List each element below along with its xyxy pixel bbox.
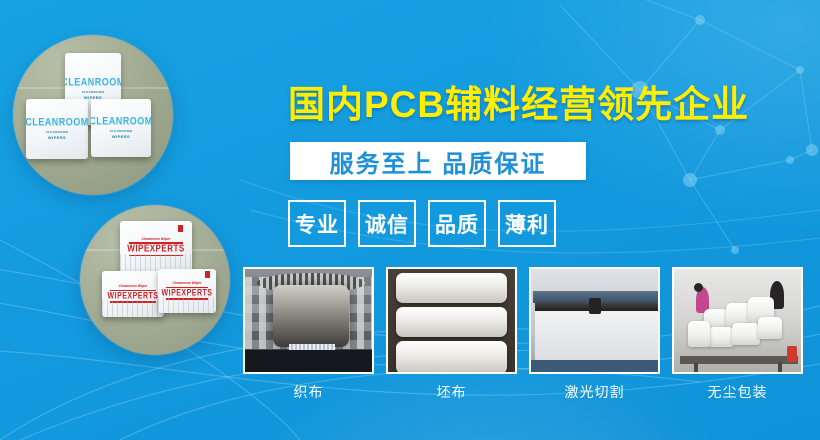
cleanroom-wipes-circle: CLEANROOM CLEANROOM WIPERS CLEANROOM CLE… (13, 35, 173, 195)
cleanroom-pack-right: CLEANROOM CLEANROOM WIPERS (91, 99, 151, 157)
process-photo-item: 无尘包装 (672, 267, 803, 402)
wipexperts-brand-text: WIPEXPERTS (162, 289, 213, 298)
cleanroom-sub-text: CLEANROOM (110, 129, 132, 133)
photo-caption: 坯布 (437, 382, 467, 402)
cleanroom-brand-text: CLEANROOM (91, 116, 151, 127)
red-stamp-icon (205, 271, 210, 278)
cleanroom-brand-text: CLEANROOM (26, 117, 88, 128)
wipexperts-top-text: Cleanroom Wiper (173, 281, 202, 285)
cleanroom-sub-text: CLEANROOM (82, 90, 104, 94)
badge-label: 品质 (435, 209, 479, 239)
laser-cutting-photo (529, 267, 660, 374)
process-photo-strip: 织布 坯布 激光切割 (243, 267, 803, 402)
wipexperts-pack-left: Cleanroom Wiper WIPEXPERTS (102, 271, 164, 317)
wipexperts-top-text: Cleanroom Wiper (142, 237, 171, 241)
badge-label: 诚信 (365, 209, 409, 239)
wipexperts-circle: Cleanroom Wiper WIPEXPERTS Cleanroom Wip… (80, 205, 230, 355)
cleanroom-pack-left: CLEANROOM CLEANROOM WIPERS (26, 99, 88, 159)
badge-integrity: 诚信 (358, 200, 416, 247)
cleanroom-sub2-text: WIPERS (48, 135, 66, 140)
promotional-banner: CLEANROOM CLEANROOM WIPERS CLEANROOM CLE… (0, 0, 820, 440)
value-badge-row: 专业 诚信 品质 薄利 (288, 200, 556, 247)
banner-headline: 国内PCB辅料经营领先企业 (288, 74, 749, 128)
subtitle-band: 服务至上 品质保证 (290, 142, 586, 180)
wipexperts-brand-text: WIPEXPERTS (108, 292, 159, 301)
fabric-rolls-photo (386, 267, 517, 374)
wipexperts-pack-right: Cleanroom Wiper WIPEXPERTS (158, 269, 216, 313)
cleanroom-sub-text: CLEANROOM (46, 130, 68, 134)
process-photo-item: 坯布 (386, 267, 517, 402)
photo-caption: 无尘包装 (708, 382, 768, 402)
badge-label: 薄利 (505, 209, 549, 239)
red-bucket (787, 346, 797, 362)
wipexperts-brand-text: WIPEXPERTS (127, 244, 184, 254)
wipexperts-pack-top: Cleanroom Wiper WIPEXPERTS (120, 221, 192, 273)
badge-quality: 品质 (428, 200, 486, 247)
cleanroom-sub2-text: WIPERS (112, 134, 130, 139)
banner-subtitle: 服务至上 品质保证 (330, 144, 547, 179)
badge-professional: 专业 (288, 200, 346, 247)
photo-caption: 激光切割 (565, 382, 625, 402)
badge-low-margin: 薄利 (498, 200, 556, 247)
process-photo-item: 激光切割 (529, 267, 660, 402)
wipexperts-top-text: Cleanroom Wiper (119, 284, 148, 288)
cleanroom-brand-text: CLEANROOM (65, 77, 121, 88)
knitting-machine-photo (243, 267, 374, 374)
cleanroom-packing-photo (672, 267, 803, 374)
badge-label: 专业 (295, 209, 339, 239)
photo-caption: 织布 (294, 382, 324, 402)
red-stamp-icon (178, 225, 183, 232)
process-photo-item: 织布 (243, 267, 374, 402)
